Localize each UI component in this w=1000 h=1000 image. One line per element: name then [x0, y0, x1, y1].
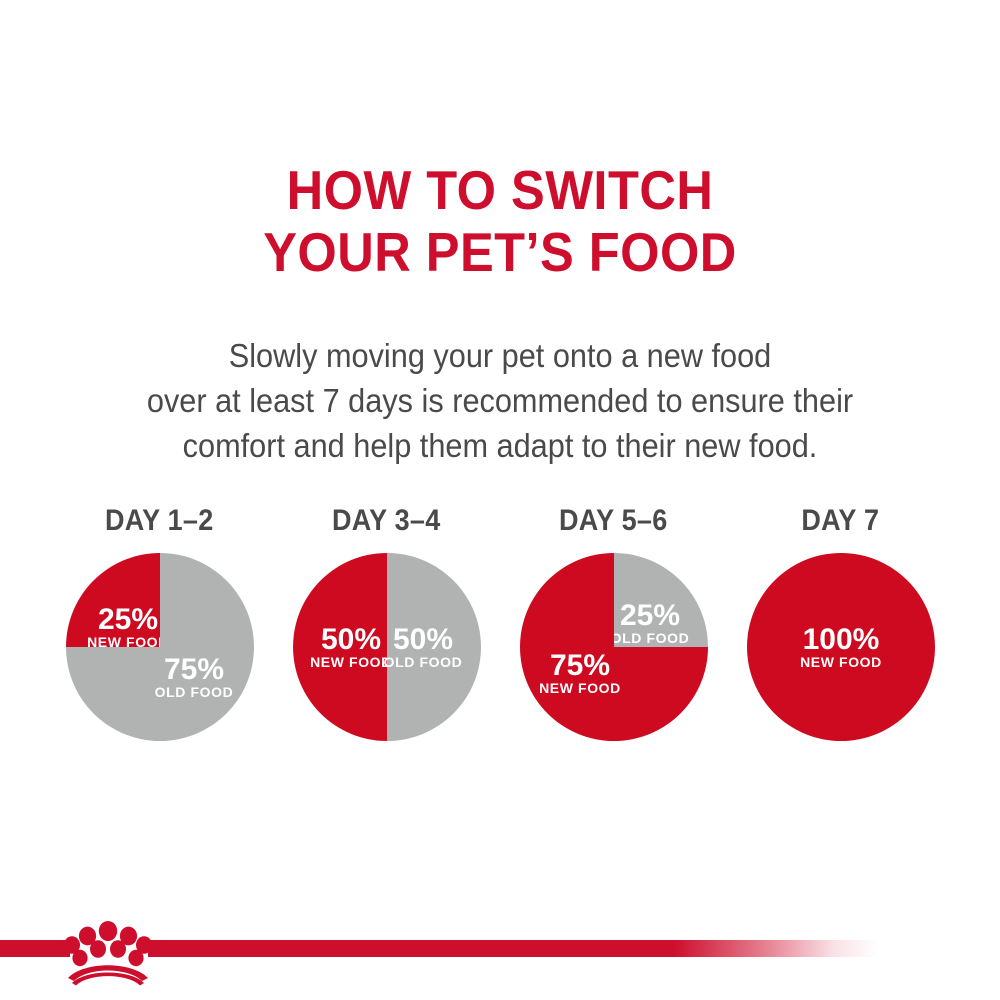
slice-caption-label: NEW FOOD	[539, 680, 621, 696]
day-label: DAY 5–6	[559, 505, 667, 537]
slice-percent-label: 75%	[549, 649, 609, 682]
footer	[0, 904, 1000, 1000]
infographic-page: HOW TO SWITCH YOUR PET’S FOOD Slowly mov…	[0, 0, 1000, 1000]
slice-percent-label: 50%	[392, 623, 452, 656]
slice-caption-label: NEW FOOD	[800, 654, 882, 670]
slice-caption-label: OLD FOOD	[154, 684, 233, 700]
pie-chart-column: DAY 5–625%OLD FOOD75%NEW FOOD	[500, 505, 727, 741]
day-label: DAY 1–2	[105, 505, 213, 537]
page-title: HOW TO SWITCH YOUR PET’S FOOD	[40, 159, 960, 283]
slice-percent-label: 25%	[619, 599, 679, 632]
day-label: DAY 3–4	[332, 505, 440, 537]
intro-paragraph: Slowly moving your pet onto a new food o…	[35, 333, 965, 468]
pie-chart-column: DAY 1–225%NEW FOOD75%OLD FOOD	[46, 505, 273, 741]
slice-percent-label: 25%	[97, 603, 157, 636]
page-title-line-1: HOW TO SWITCH	[40, 159, 960, 221]
intro-paragraph-line-3: comfort and help them adapt to their new…	[35, 423, 965, 468]
slice-percent-label: 75%	[163, 653, 223, 686]
pie-chart-column: DAY 7100%NEW FOOD	[727, 505, 954, 741]
intro-paragraph-line-1: Slowly moving your pet onto a new food	[35, 333, 965, 378]
pie-chart: 25%NEW FOOD75%OLD FOOD	[66, 553, 254, 741]
pie-chart: 100%NEW FOOD	[747, 553, 935, 741]
pie-chart: 25%OLD FOOD75%NEW FOOD	[520, 553, 708, 741]
pie-chart-column: DAY 3–450%NEW FOOD50%OLD FOOD	[273, 505, 500, 741]
royal-canin-crown-icon	[62, 914, 154, 986]
slice-caption-label: OLD FOOD	[383, 654, 462, 670]
footer-rule-right	[148, 940, 878, 957]
slice-percent-label: 100%	[802, 623, 879, 656]
slice-caption-label: NEW FOOD	[310, 654, 392, 670]
page-title-line-2: YOUR PET’S FOOD	[40, 221, 960, 283]
transition-schedule-chart-row: DAY 1–225%NEW FOOD75%OLD FOODDAY 3–450%N…	[46, 505, 954, 765]
slice-percent-label: 50%	[320, 623, 380, 656]
day-label: DAY 7	[802, 505, 880, 537]
slice-caption-label: OLD FOOD	[610, 630, 689, 646]
intro-paragraph-line-2: over at least 7 days is recommended to e…	[35, 378, 965, 423]
pie-chart: 50%NEW FOOD50%OLD FOOD	[293, 553, 481, 741]
footer-rule-left	[0, 940, 70, 957]
